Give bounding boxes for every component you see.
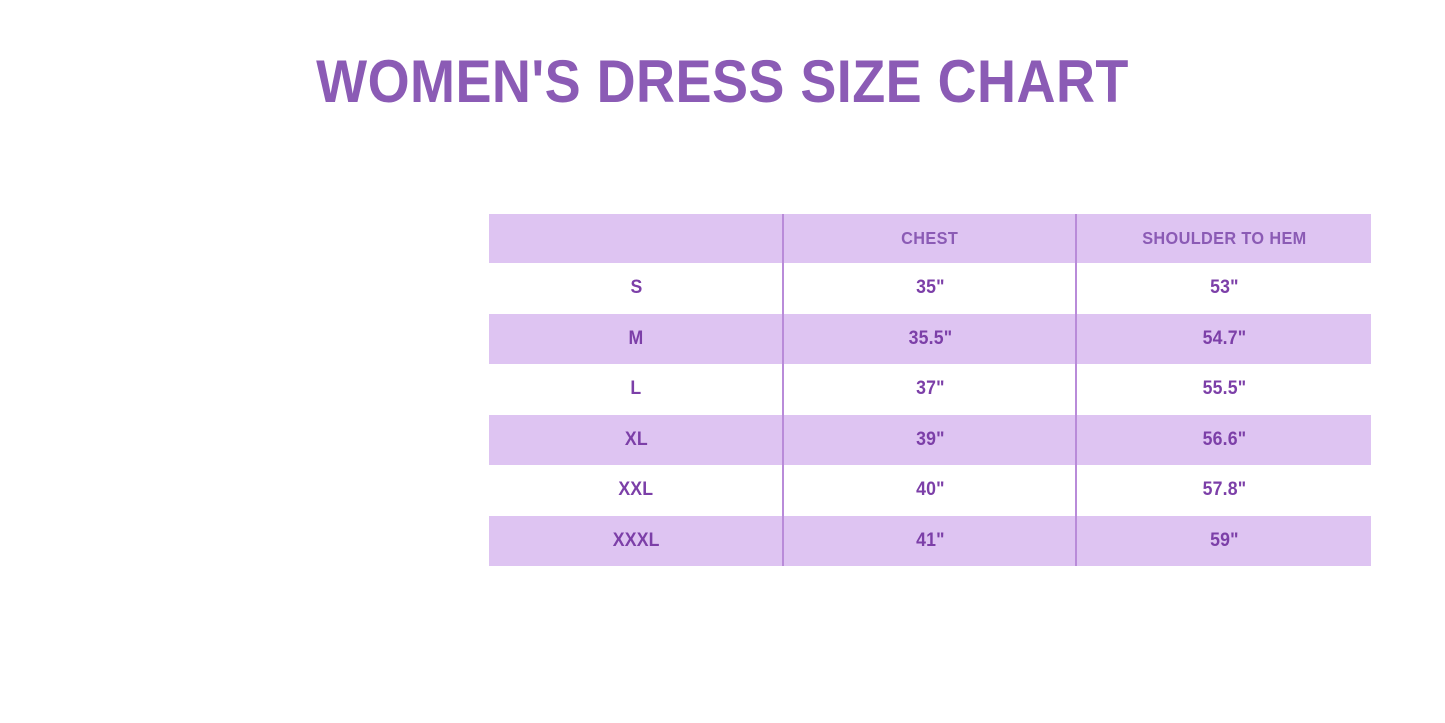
chest-value: 37" (916, 378, 945, 400)
size-label: XXL (619, 479, 654, 501)
shoulder-to-hem-value: 57.8" (1202, 479, 1246, 501)
table-row: S 35" 53" (489, 263, 1371, 314)
cell-chest: 41" (783, 516, 1077, 567)
cell-shoulder-to-hem: 56.6" (1077, 415, 1371, 466)
column-header-chest-label: CHEST (901, 228, 958, 249)
cell-size: L (489, 364, 783, 415)
shoulder-to-hem-value: 53" (1210, 277, 1239, 299)
cell-shoulder-to-hem: 54.7" (1077, 314, 1371, 365)
column-header-chest: CHEST (783, 214, 1077, 263)
shoulder-to-hem-value: 59" (1210, 530, 1239, 552)
chest-value: 40" (916, 479, 945, 501)
table-row: M 35.5" 54.7" (489, 314, 1371, 365)
shoulder-to-hem-value: 56.6" (1202, 429, 1246, 451)
column-header-shoulder-to-hem: SHOULDER TO HEM (1077, 214, 1371, 263)
shoulder-to-hem-value: 54.7" (1202, 328, 1246, 350)
table-header-row: CHEST SHOULDER TO HEM (489, 214, 1371, 263)
cell-chest: 35.5" (783, 314, 1077, 365)
size-label: S (630, 277, 642, 299)
table-row: L 37" 55.5" (489, 364, 1371, 415)
page-title: WOMEN'S DRESS SIZE CHART (72, 52, 1373, 112)
cell-shoulder-to-hem: 53" (1077, 263, 1371, 314)
shoulder-to-hem-value: 55.5" (1202, 378, 1246, 400)
cell-shoulder-to-hem: 55.5" (1077, 364, 1371, 415)
table-row: XXL 40" 57.8" (489, 465, 1371, 516)
table-header: CHEST SHOULDER TO HEM (489, 214, 1371, 263)
size-label: M (629, 328, 644, 350)
table-row: XL 39" 56.6" (489, 415, 1371, 466)
table-body: S 35" 53" M 35.5" 54.7" (489, 263, 1371, 566)
table-row: XXXL 41" 59" (489, 516, 1371, 567)
column-header-size (489, 214, 783, 263)
cell-chest: 37" (783, 364, 1077, 415)
cell-size: S (489, 263, 783, 314)
cell-chest: 40" (783, 465, 1077, 516)
chest-value: 35.5" (908, 328, 952, 350)
size-label: L (631, 378, 642, 400)
cell-size: XXL (489, 465, 783, 516)
cell-size: XXXL (489, 516, 783, 567)
column-header-shoulder-to-hem-label: SHOULDER TO HEM (1142, 228, 1306, 249)
size-label: XL (625, 429, 648, 451)
cell-chest: 39" (783, 415, 1077, 466)
size-label: XXXL (613, 530, 660, 552)
chest-value: 41" (916, 530, 945, 552)
chest-value: 39" (916, 429, 945, 451)
cell-size: M (489, 314, 783, 365)
cell-shoulder-to-hem: 59" (1077, 516, 1371, 567)
size-chart-table: CHEST SHOULDER TO HEM S 35" 53" (489, 214, 1371, 566)
cell-size: XL (489, 415, 783, 466)
size-chart-table-container: CHEST SHOULDER TO HEM S 35" 53" (489, 214, 1371, 566)
cell-chest: 35" (783, 263, 1077, 314)
cell-shoulder-to-hem: 57.8" (1077, 465, 1371, 516)
chest-value: 35" (916, 277, 945, 299)
